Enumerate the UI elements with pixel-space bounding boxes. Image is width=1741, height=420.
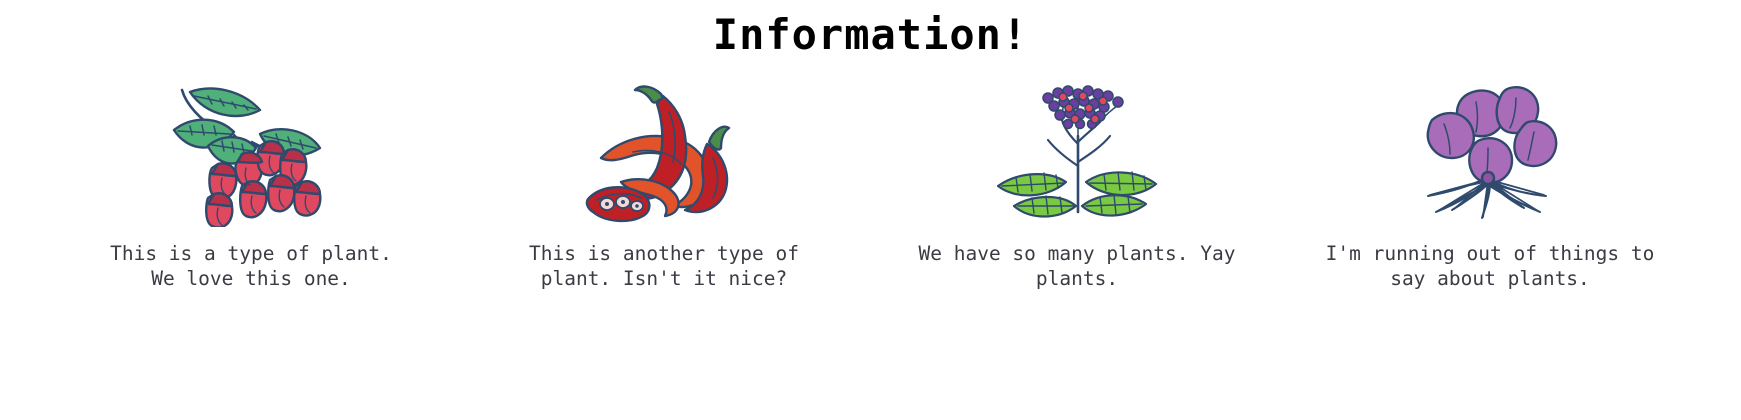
plant-card-caption: This is another type of plant. Isn't it … [504, 241, 824, 291]
plant-card: I'm running out of things to say about p… [1295, 82, 1685, 291]
information-page: Information! [0, 0, 1741, 420]
purple-flower-illustration [1390, 82, 1590, 227]
page-title: Information! [0, 0, 1741, 60]
plant-card: This is another type of plant. Isn't it … [469, 82, 859, 291]
plant-card-list: This is a type of plant. We love this on… [0, 82, 1741, 291]
plant-card-caption: This is a type of plant. We love this on… [101, 241, 401, 291]
plant-card: This is a type of plant. We love this on… [56, 82, 446, 291]
chili-peppers-illustration [564, 82, 764, 227]
berry-branch-illustration [151, 82, 351, 227]
elderberry-plant-illustration [977, 82, 1177, 227]
plant-card-caption: We have so many plants. Yay plants. [912, 241, 1242, 291]
plant-card: We have so many plants. Yay plants. [882, 82, 1272, 291]
plant-card-caption: I'm running out of things to say about p… [1325, 241, 1655, 291]
